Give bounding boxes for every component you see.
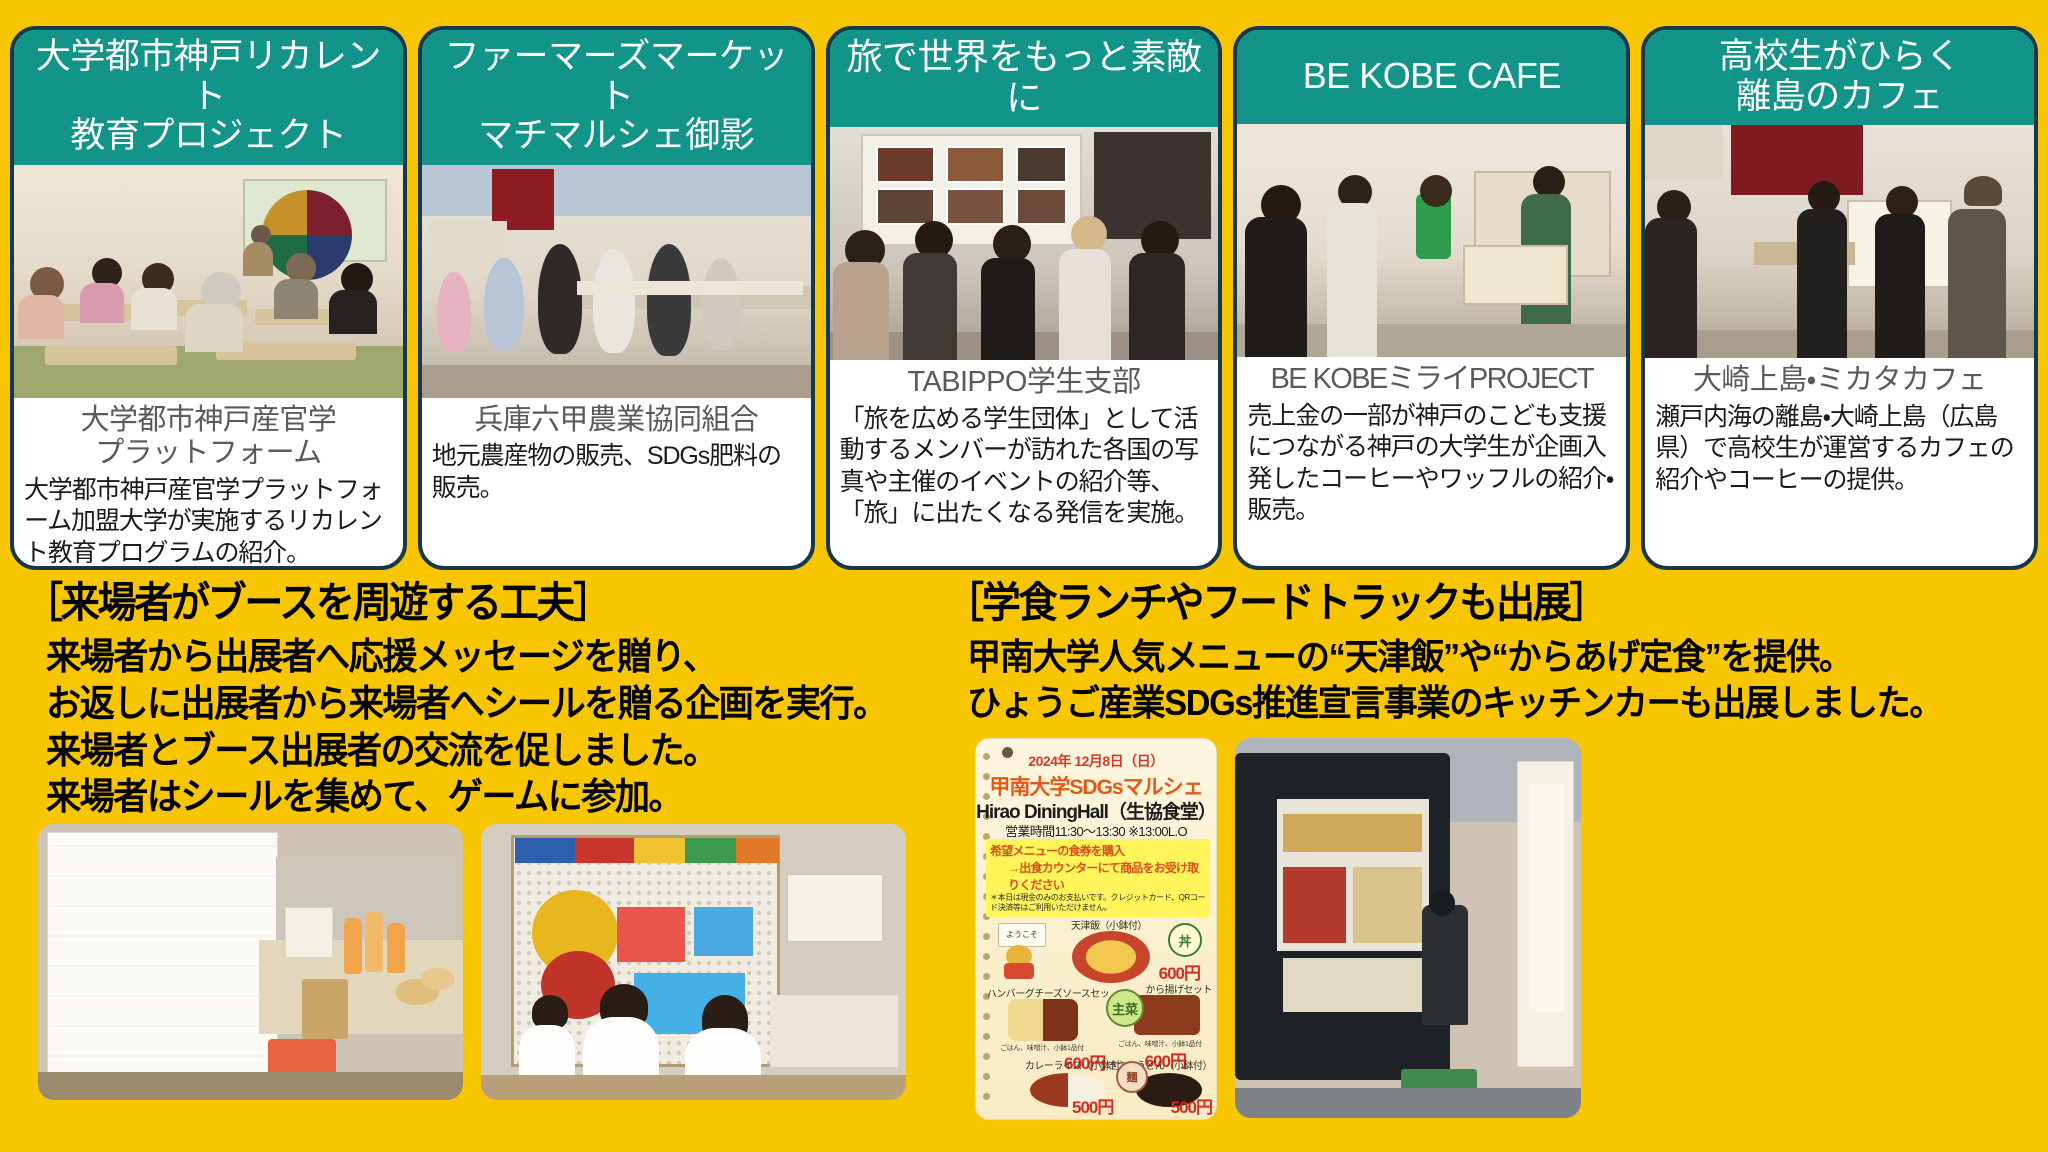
card-title: ファーマーズマーケットマチマルシェ御影 [422,30,811,165]
poster-badge-men: 麺 [1116,1061,1148,1093]
farmers-market-photo [422,165,811,398]
card-organization: 大学都市神戸産官学 プラットフォーム [24,404,393,471]
card-title-line2: マチマルシェ御影 [478,116,754,155]
poster-hall: Hirao DiningHall（生協食堂） [976,797,1216,824]
section-line: 来場者はシールを集めて、ゲームに参加。 [46,774,899,821]
card-org-line1: 兵庫六甲農業協同組合 [474,404,758,436]
section-photo-pair: 2024年 12月8日（日） 甲南大学SDGsマルシェ Hirao Dining… [975,738,1581,1120]
section-body: 来場者から出展者へ応援メッセージを贈り、 お返しに出展者から来場者へシールを贈る… [24,634,944,820]
poster-badge-donburi: 丼 [1168,923,1202,957]
section-body: 甲南大学人気メニューの“天津飯”や“からあげ定食”を提供。 ひょうご産業SDGs… [945,634,2035,725]
exhibitor-card[interactable]: 大学都市神戸リカレント教育プロジェクト [10,26,407,570]
section-heading: ［来場者がブースを周遊する工夫］ [24,578,880,628]
cafe-counter-photo [1237,124,1626,357]
exhibitor-card-row: 大学都市神戸リカレント教育プロジェクト [10,26,2038,570]
section-line: 来場者とブース出展者の交流を促しました。 [46,728,899,775]
card-description: 地元農産物の販売、SDGs肥料の販売。 [432,441,801,504]
exhibitor-card[interactable]: 旅で世界をもっと素敵に [826,26,1223,570]
card-body: 大崎上島・ミカタカフェ 瀬戸内海の離島・大崎上島（広島県）で高校生が運営するカフ… [1645,358,2034,566]
section-cafeteria-food-truck: ［学食ランチやフードトラックも出展］ 甲南大学人気メニューの“天津飯”や“からあ… [945,578,2035,725]
island-cafe-booth-photo [1645,125,2034,358]
card-organization: BE KOBEミライPROJECT [1247,363,1616,397]
card-description: 大学都市神戸産官学プラットフォーム加盟大学が実施するリカレント教育プログラムの紹… [24,475,393,570]
section-line: ひょうご産業SDGs推進宣言事業のキッチンカーも出展しました。 [967,680,1982,725]
card-title: BE KOBE CAFE [1237,30,1626,124]
card-title-line2: 離島のカフェ [1736,77,1943,116]
poster-welcome-sign: ようこそ [998,923,1046,947]
poster-note-line2: →出食カウンターにて商品をお受け取りください [990,859,1206,893]
card-body: TABIPPO学生支部 「旅を広める学生団体」として活動するメンバーが訪れた各国… [830,360,1219,566]
card-description: 瀬戸内海の離島・大崎上島（広島県）で高校生が運営するカフェの紹介やコーヒーの提供… [1655,402,2024,497]
exhibitor-card[interactable]: 高校生がひらく離島のカフェ 大崎上島・ミカタカフェ [1641,26,2038,570]
card-title-line1: 高校生がひらく [1719,37,1961,76]
section-line: 来場者から出展者へ応援メッセージを贈り、 [46,634,899,681]
lunch-menu-poster-photo: 2024年 12月8日（日） 甲南大学SDGsマルシェ Hirao Dining… [975,738,1217,1120]
card-org-line1: 大学都市神戸産官学 [81,404,337,436]
section-line: 甲南大学人気メニューの“天津飯”や“からあげ定食”を提供。 [967,634,1982,679]
exhibitor-card[interactable]: ファーマーズマーケットマチマルシェ御影 兵庫六甲農業協同組合 [418,26,815,570]
section-heading: ［学食ランチやフードトラックも出展］ [945,578,1959,628]
poster-note-line3: ＊本日は現金のみのお支払いです。クレジットカード、QRコード決済等はご利用いただ… [990,893,1206,914]
section-line: お返しに出展者から来場者へシールを贈る企画を実行。 [46,681,899,728]
poster-menu-price: 500円 [1072,1093,1113,1118]
poster-note-line1: 希望メニューの食券を購入 [990,842,1206,859]
card-organization: 大崎上島・ミカタカフェ [1655,364,2024,398]
sdgs-pixel-wall-photo [481,824,906,1100]
card-title-line1: 大学都市神戸リカレント [36,37,381,116]
section-visitor-booth-tour: ［来場者がブースを周遊する工夫］ 来場者から出展者へ応援メッセージを贈り、 お返… [24,578,944,821]
card-title: 高校生がひらく離島のカフェ [1645,30,2034,125]
travel-booth-photo [830,127,1219,360]
bottom-section: ［来場者がブースを周遊する工夫］ 来場者から出展者へ応援メッセージを贈り、 お返… [0,578,2048,1152]
card-organization: TABIPPO学生支部 [840,366,1209,400]
section-photo-pair [38,824,906,1100]
card-title-line1: BE KOBE CAFE [1303,56,1561,97]
message-board-booth-photo [38,824,463,1100]
card-title-line1: 旅で世界をもっと素敵に [836,37,1213,118]
card-org-line1: 大崎上島・ミカタカフェ [1693,364,1986,396]
food-truck-photo [1235,738,1581,1118]
card-description: 「旅を広める学生団体」として活動するメンバーが訪れた各国の写真や主催のイベントの… [840,404,1209,530]
card-org-line1: TABIPPO学生支部 [908,366,1141,398]
poster-badge-shusai: 主菜 [1106,989,1144,1027]
card-title: 旅で世界をもっと素敵に [830,30,1219,127]
card-title-line1: ファーマーズマーケット [445,37,788,116]
poster-menu-name: 天津飯（小鉢付） [1054,917,1164,932]
poster-date: 2024年 12月8日（日） [976,751,1216,771]
card-body: 兵庫六甲農業協同組合 地元農産物の販売、SDGs肥料の販売。 [422,398,811,566]
card-organization: 兵庫六甲農業協同組合 [432,404,801,438]
lecture-room-photo [14,165,403,398]
card-title: 大学都市神戸リカレント教育プロジェクト [14,30,403,165]
exhibitor-card[interactable]: BE KOBE CAFE BE KOBEミライPROJECT [1233,26,1630,570]
card-body: BE KOBEミライPROJECT 売上金の一部が神戸のこども支援につながる神戸… [1237,357,1626,566]
card-org-line1: BE KOBEミライPROJECT [1271,363,1593,395]
card-title-line2: 教育プロジェクト [70,116,346,155]
poster-menu-price: 500円 [1171,1093,1212,1118]
card-body: 大学都市神戸産官学 プラットフォーム 大学都市神戸産官学プラットフォーム加盟大学… [14,398,403,570]
card-description: 売上金の一部が神戸のこども支援につながる神戸の大学生が企画入発したコーヒーやワッ… [1247,401,1616,527]
card-org-line2: プラットフォーム [95,437,321,469]
poster-hours: 営業時間11:30～13:30 ※13:00L.O [976,821,1216,840]
